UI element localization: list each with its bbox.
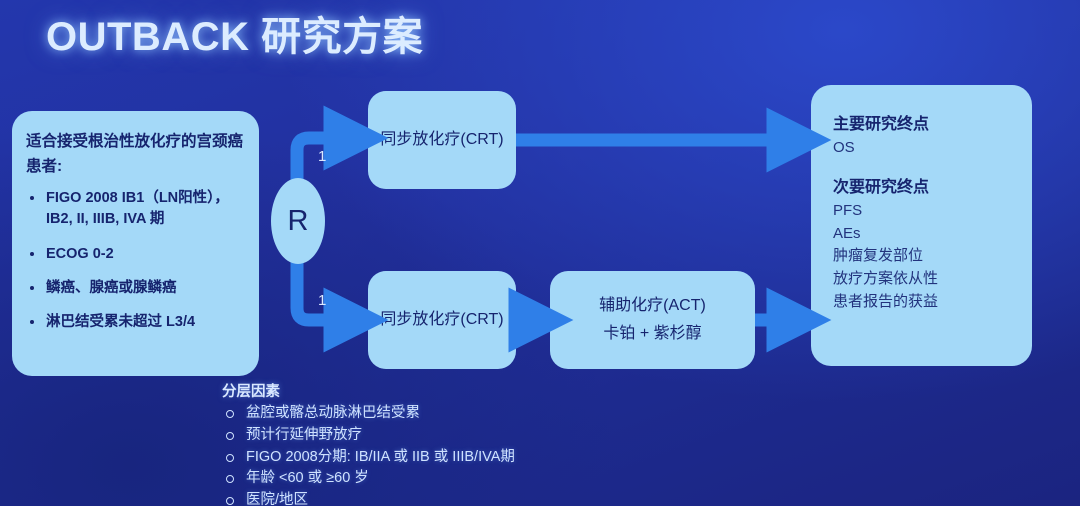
randomization-label: R — [288, 205, 309, 238]
flow-arrows — [0, 0, 1080, 506]
arm-top-ratio-label: 1 — [318, 148, 326, 165]
slide-canvas: OUTBACK 研究方案 适合接受根治性放化疗的宫颈癌患者: FIGO 2008… — [0, 0, 1080, 506]
randomization-node: R — [271, 178, 325, 264]
arm-bottom-ratio-label: 1 — [318, 292, 326, 309]
